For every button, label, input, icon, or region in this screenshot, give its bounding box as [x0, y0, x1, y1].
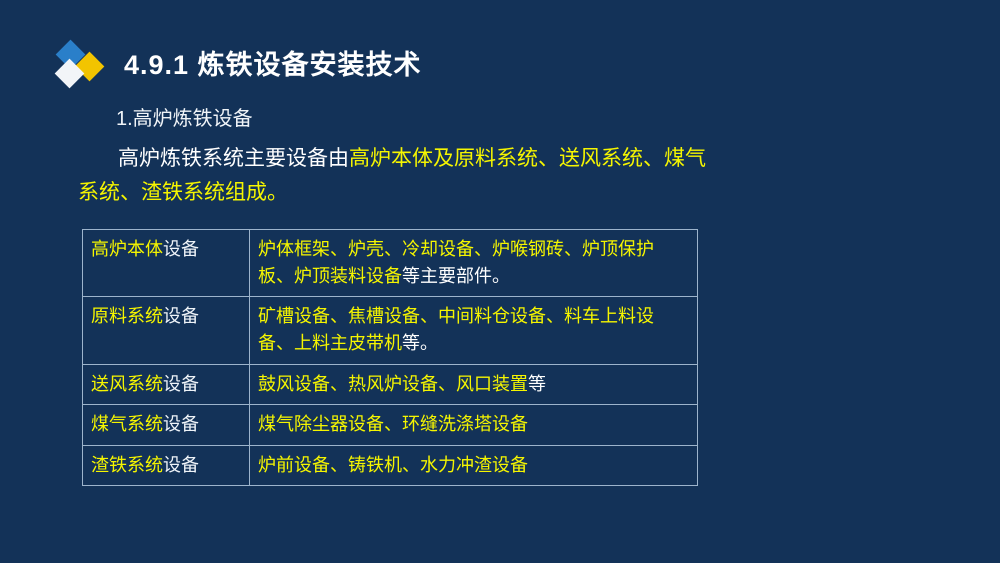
category-plain: 设备: [163, 306, 199, 326]
table-cell-detail: 炉前设备、铸铁机、水力冲渣设备: [250, 445, 698, 486]
category-plain: 设备: [163, 239, 199, 259]
detail-highlight: 矿槽设备、焦槽设备、中间料仓设备、料车上料设备、上料主皮带机: [258, 306, 654, 353]
category-plain: 设备: [163, 414, 199, 434]
category-highlight: 渣铁系统: [91, 455, 163, 475]
table-row: 煤气系统设备 煤气除尘器设备、环缝洗涤塔设备: [83, 405, 698, 446]
table-row: 送风系统设备 鼓风设备、热风炉设备、风口装置等: [83, 364, 698, 405]
table-cell-detail: 鼓风设备、热风炉设备、风口装置等: [250, 364, 698, 405]
detail-highlight: 煤气除尘器设备、环缝洗涤塔设备: [258, 414, 528, 434]
category-highlight: 原料系统: [91, 306, 163, 326]
table-cell-detail: 炉体框架、炉壳、冷却设备、炉喉钢砖、炉顶保护板、炉顶装料设备等主要部件。: [250, 230, 698, 297]
detail-plain: 等: [528, 374, 546, 394]
detail-highlight: 鼓风设备、热风炉设备、风口装置: [258, 374, 528, 394]
three-diamonds-logo-icon: [52, 38, 108, 92]
detail-plain: 等主要部件。: [402, 266, 510, 286]
table-cell-category: 渣铁系统设备: [83, 445, 250, 486]
table-cell-detail: 煤气除尘器设备、环缝洗涤塔设备: [250, 405, 698, 446]
detail-plain: 等。: [402, 333, 438, 353]
category-highlight: 煤气系统: [91, 414, 163, 434]
table-cell-category: 煤气系统设备: [83, 405, 250, 446]
intro-paragraph: 高炉炼铁系统主要设备由高炉本体及原料系统、送风系统、煤气系统、渣铁系统组成。: [78, 142, 718, 210]
equipment-table: 高炉本体设备 炉体框架、炉壳、冷却设备、炉喉钢砖、炉顶保护板、炉顶装料设备等主要…: [82, 229, 698, 486]
category-plain: 设备: [163, 455, 199, 475]
table-cell-category: 原料系统设备: [83, 297, 250, 364]
category-highlight: 送风系统: [91, 374, 163, 394]
paragraph-plain-text: 高炉炼铁系统主要设备由: [118, 147, 349, 170]
slide-title-row: 4.9.1 炼铁设备安装技术: [52, 38, 422, 92]
table-row: 高炉本体设备 炉体框架、炉壳、冷却设备、炉喉钢砖、炉顶保护板、炉顶装料设备等主要…: [83, 230, 698, 297]
table-row: 原料系统设备 矿槽设备、焦槽设备、中间料仓设备、料车上料设备、上料主皮带机等。: [83, 297, 698, 364]
detail-highlight: 炉前设备、铸铁机、水力冲渣设备: [258, 455, 528, 475]
table-cell-category: 高炉本体设备: [83, 230, 250, 297]
category-plain: 设备: [163, 374, 199, 394]
sub-heading: 1.高炉炼铁设备: [116, 104, 718, 134]
table-cell-detail: 矿槽设备、焦槽设备、中间料仓设备、料车上料设备、上料主皮带机等。: [250, 297, 698, 364]
table-cell-category: 送风系统设备: [83, 364, 250, 405]
category-highlight: 高炉本体: [91, 239, 163, 259]
table-row: 渣铁系统设备 炉前设备、铸铁机、水力冲渣设备: [83, 445, 698, 486]
slide-canvas: 4.9.1 炼铁设备安装技术 1.高炉炼铁设备 高炉炼铁系统主要设备由高炉本体及…: [0, 0, 1000, 563]
body-text-block: 1.高炉炼铁设备 高炉炼铁系统主要设备由高炉本体及原料系统、送风系统、煤气系统、…: [78, 104, 718, 210]
page-title: 4.9.1 炼铁设备安装技术: [124, 52, 422, 79]
